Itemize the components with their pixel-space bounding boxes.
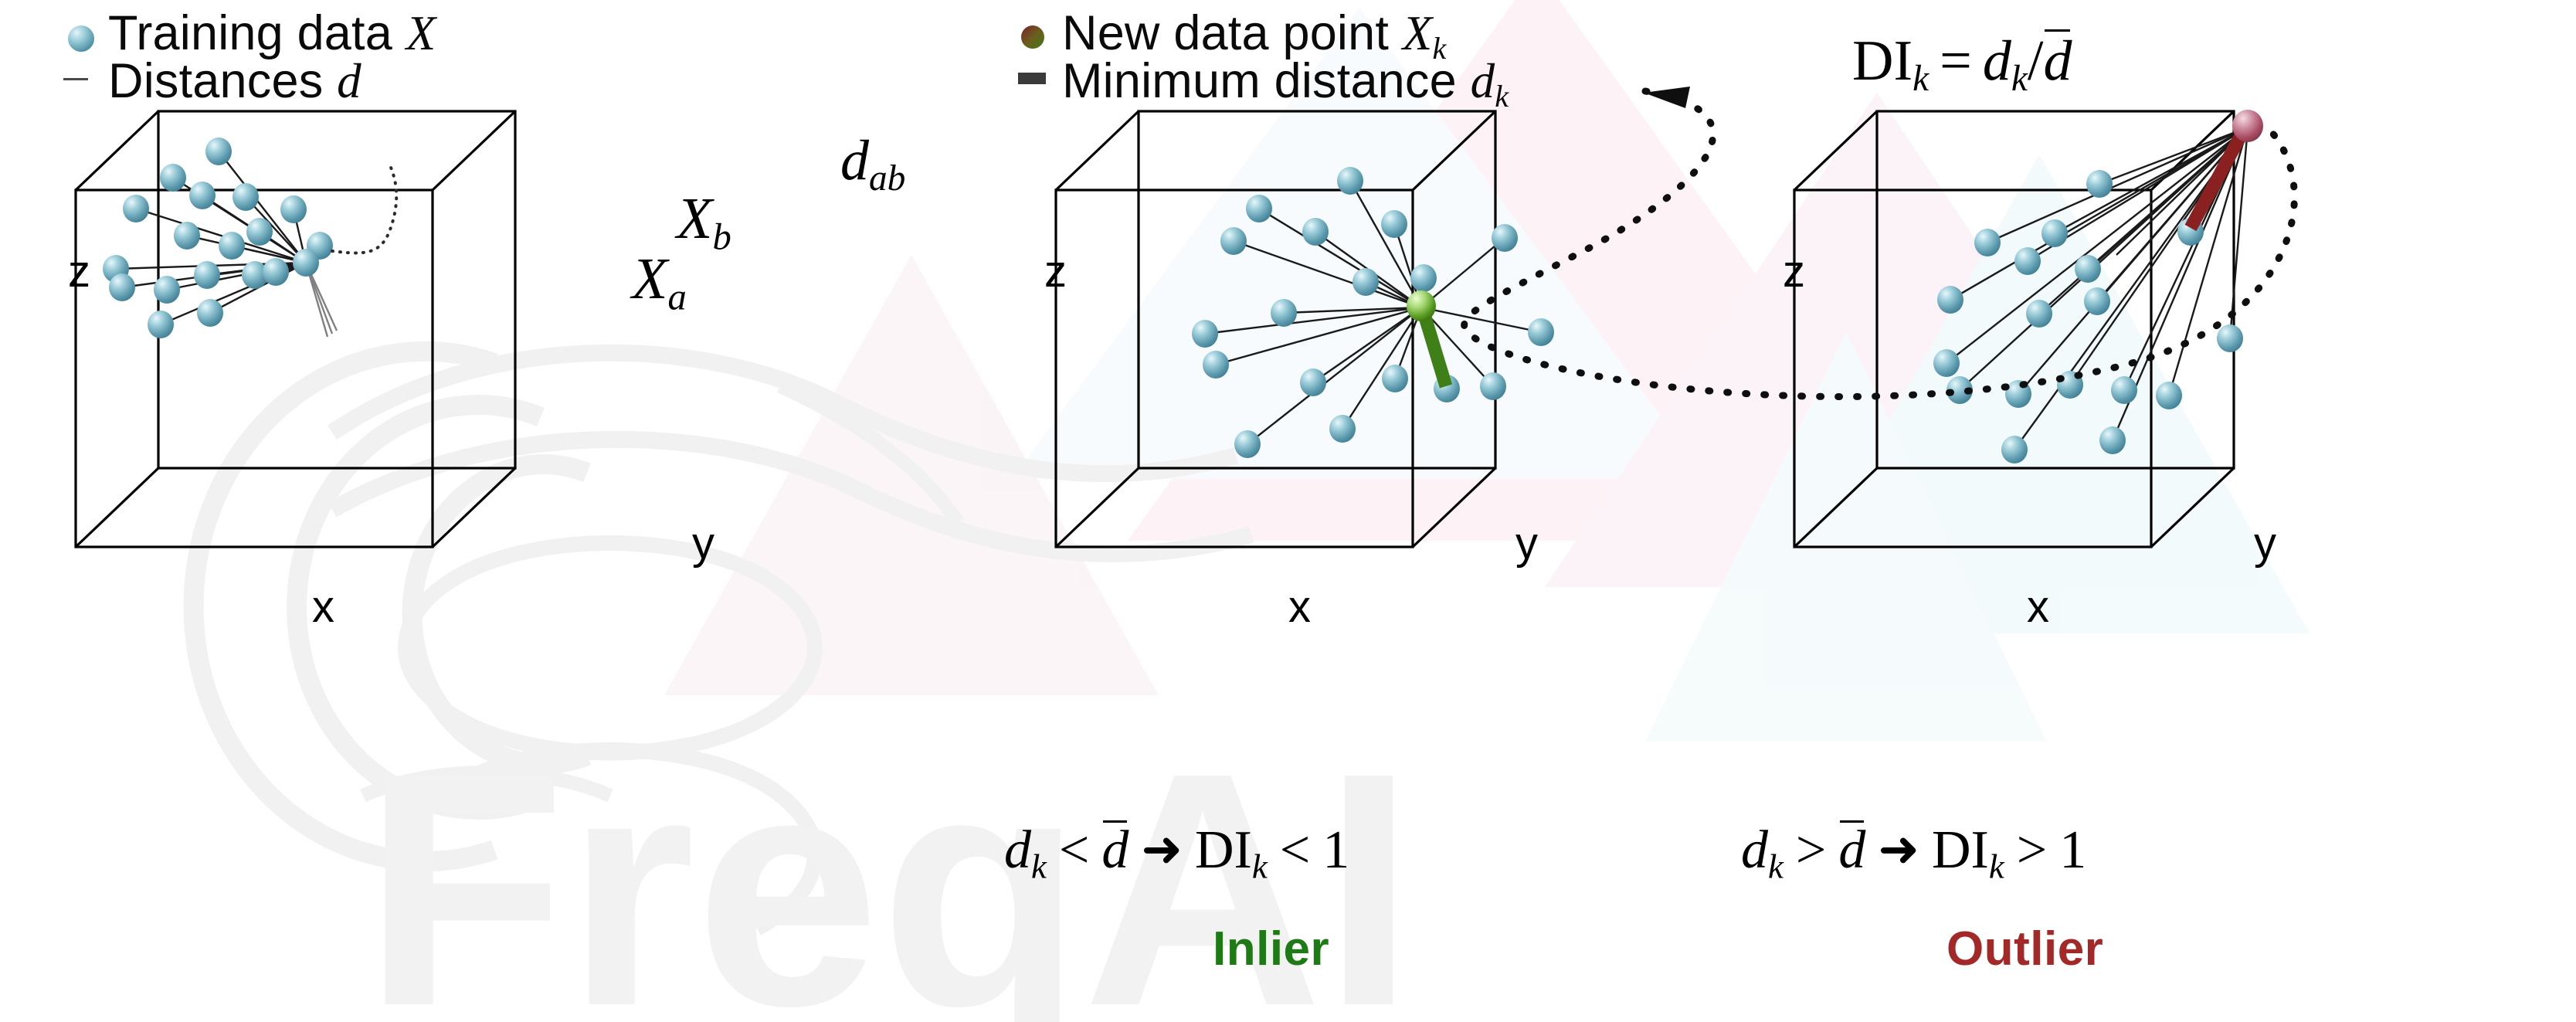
training-point (1234, 430, 1261, 458)
legend-label-new-data-point: New data point (1062, 6, 1403, 60)
inlier-formula-rel1: < (1047, 820, 1101, 880)
point-label-xa-sub: a (667, 277, 686, 318)
dab-symbol: d (840, 129, 869, 192)
training-point (1337, 167, 1363, 195)
training-point-xa (293, 249, 319, 277)
training-point-marker (68, 25, 94, 52)
training-data-panel (76, 111, 515, 547)
dab-label: dab (840, 128, 905, 199)
training-point (1271, 299, 1297, 327)
legend-symbol-dk-sub: k (1495, 79, 1509, 114)
training-point (246, 218, 273, 246)
outlier-formula-rel2: > (2004, 820, 2059, 880)
distance-line-marker (63, 78, 88, 80)
di-formula: DIk=dk/d (1852, 32, 2072, 98)
point-label-xb-sub: b (712, 216, 731, 258)
legend-label-distances: Distances (108, 54, 337, 108)
training-point (2084, 287, 2110, 315)
outlier-formula-rel1: > (1784, 820, 1838, 880)
outlier-formula-di-sub: k (1989, 847, 2004, 885)
axis-label-x-training: x (312, 581, 334, 633)
legend-symbol-d: d (337, 54, 361, 108)
training-point (2099, 426, 2126, 454)
training-point (1220, 227, 1247, 255)
di-formula-equals: = (1929, 29, 1983, 93)
training-point (1246, 195, 1272, 222)
legend-symbol-X: X (406, 6, 436, 60)
training-point (1974, 229, 2001, 256)
axis-label-x-outlier: x (2027, 581, 2049, 633)
training-point (1192, 320, 1218, 348)
training-point (1480, 372, 1506, 400)
cube-wireframe-training (76, 111, 515, 547)
training-point (2026, 300, 2052, 328)
training-point (2041, 219, 2068, 247)
di-formula-lhs: DI (1852, 29, 1912, 93)
inlier-formula-dbar: d (1101, 823, 1128, 878)
legend-item-min-distance: Minimum distance dk (1062, 57, 1509, 112)
new-point-marker (1021, 25, 1044, 49)
training-point (232, 183, 259, 211)
dab-symbol-sub: ab (869, 158, 905, 199)
training-points-group (103, 138, 333, 338)
new-data-point-outlier (2232, 110, 2263, 142)
axis-label-y-outlier: y (2254, 518, 2276, 569)
training-point (1329, 415, 1356, 443)
training-point (2001, 436, 2028, 463)
outlier-panel (1794, 110, 2263, 547)
legend-symbol-dk: d (1471, 54, 1495, 108)
training-point (1382, 365, 1408, 392)
axis-label-z-outlier: z (1783, 246, 1805, 297)
training-point (194, 261, 220, 289)
leader-arrowhead-dk (1644, 87, 1690, 108)
training-point (263, 258, 289, 286)
training-point (174, 222, 200, 250)
outlier-caption-word: Outlier (1946, 922, 2103, 976)
legend-symbol-Xk: X (1403, 6, 1433, 60)
outlier-formula-dk-sub: k (1768, 847, 1784, 885)
inlier-formula-rel2: < (1268, 820, 1322, 880)
training-point (1203, 351, 1229, 379)
training-point (109, 273, 135, 301)
outlier-formula-arrow: ➜ (1865, 825, 1932, 874)
axis-label-y-inlier: y (1515, 518, 1538, 569)
axis-label-z-inlier: z (1044, 246, 1067, 297)
training-point (2111, 376, 2137, 404)
training-point (2217, 324, 2243, 352)
training-point (123, 195, 149, 222)
legend-item-training-data: Training data X (108, 9, 436, 58)
training-point (1352, 268, 1379, 296)
legend-label-min-distance: Minimum distance (1062, 54, 1471, 108)
di-formula-denominator: d (2043, 32, 2072, 90)
outlier-formula-dk: d (1741, 820, 1768, 880)
training-point (1528, 318, 1554, 346)
inlier-formula-dk: d (1004, 820, 1031, 880)
inlier-formula-arrow: ➜ (1128, 825, 1195, 874)
training-point (189, 182, 216, 209)
training-point (219, 232, 245, 260)
inlier-formula-di: DI (1195, 820, 1252, 880)
inlier-panel (1056, 111, 1554, 547)
training-point (148, 311, 174, 338)
axis-label-y-training: y (692, 518, 714, 569)
min-distance-marker (1018, 73, 1046, 84)
legend-item-distances: Distances d (108, 57, 361, 106)
di-formula-numerator: d (1983, 29, 2011, 93)
axis-label-z-training: z (68, 246, 90, 297)
training-point (1300, 368, 1326, 396)
training-point (2075, 255, 2101, 283)
training-point (1492, 224, 1518, 252)
point-label-xb-symbol: X (677, 186, 712, 251)
training-point (1933, 349, 1960, 377)
training-point (1410, 264, 1437, 292)
training-point (2014, 247, 2041, 275)
di-formula-numerator-sub: k (2011, 59, 2028, 99)
di-formula-lhs-sub: k (1912, 59, 1929, 99)
outlier-caption-formula: dk>d➜DIk>1 (1741, 823, 2086, 884)
inlier-caption-formula: dk<d➜DIk<1 (1004, 823, 1349, 884)
training-point (154, 276, 180, 304)
training-point (2086, 170, 2113, 198)
point-label-xa-symbol: X (632, 246, 667, 311)
training-point (280, 195, 307, 223)
training-point (197, 299, 223, 327)
outlier-formula-dbar: d (1838, 823, 1865, 878)
inlier-formula-di-sub: k (1252, 847, 1268, 885)
figure-canvas: FreqAI (0, 0, 2576, 1022)
legend-label-training-data: Training data (108, 6, 406, 60)
training-point (1302, 218, 1329, 246)
di-formula-slash: / (2028, 29, 2044, 93)
inlier-formula-dk-sub: k (1031, 847, 1047, 885)
leader-line-dab (332, 164, 396, 253)
axis-label-x-inlier: x (1288, 581, 1311, 633)
training-point (160, 164, 186, 192)
training-point (1937, 286, 1963, 314)
outlier-formula-di: DI (1932, 820, 1989, 880)
new-data-point-inlier (1407, 290, 1436, 321)
training-point (1381, 210, 1407, 238)
point-label-xa: Xa (632, 246, 687, 319)
inlier-formula-value: 1 (1322, 820, 1349, 880)
outlier-formula-value: 1 (2059, 820, 2086, 880)
leader-line-dk (1464, 91, 2295, 396)
training-point (205, 138, 232, 165)
training-point (2156, 382, 2182, 409)
inlier-caption-word: Inlier (1213, 922, 1329, 976)
